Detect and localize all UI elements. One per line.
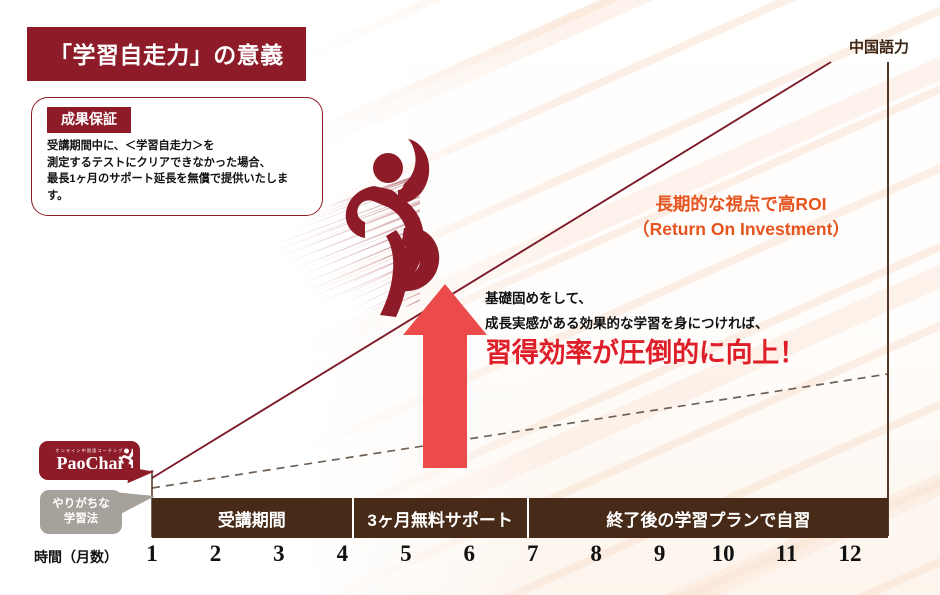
roi-line-1: 長期的な視点で高ROI <box>596 192 886 217</box>
x-axis-row: 時間（月数） 123456789101112 <box>0 541 940 575</box>
timeline-segment-3: 終了後の学習プランで自習 <box>527 498 888 538</box>
x-axis-caption: 時間（月数） <box>34 547 118 567</box>
x-axis-tick-1: 1 <box>146 541 158 567</box>
ordinary-method-callout: やりがちな 学習法 <box>40 490 122 534</box>
guarantee-badge: 成果保証 <box>47 107 131 133</box>
guarantee-line-2: 測定するテストにクリアできなかった場合、 <box>47 155 309 172</box>
improvement-arrow <box>403 284 487 468</box>
ordinary-method-line <box>152 374 888 488</box>
emphasis-annotation: 基礎固めをして、 成長実感がある効果的な学習を身につければ、 習得効率が圧倒的に… <box>485 292 925 369</box>
x-axis-tick-5: 5 <box>400 541 412 567</box>
emphasis-line-1: 基礎固めをして、 <box>485 292 925 307</box>
guarantee-text: 受講期間中に、＜学習自走力＞を 測定するテストにクリアできなかった場合、 最長1… <box>47 138 309 204</box>
slide-canvas: 「学習自走力」の意義 成果保証 受講期間中に、＜学習自走力＞を 測定するテストに… <box>0 0 940 595</box>
logo-wordmark: PaoChai <box>56 454 122 472</box>
x-axis-tick-3: 3 <box>273 541 285 567</box>
timeline-segment-2: 3ヶ月無料サポート <box>352 498 527 538</box>
x-axis-tick-8: 8 <box>590 541 602 567</box>
grey-callout-line-1: やりがちな <box>52 497 110 512</box>
guarantee-card: 成果保証 受講期間中に、＜学習自走力＞を 測定するテストにクリアできなかった場合… <box>31 97 323 216</box>
paochai-logo: オンライン中国語コーチング PaoChai <box>39 441 140 480</box>
x-axis-tick-7: 7 <box>527 541 539 567</box>
logo-runner-icon <box>119 448 133 468</box>
x-axis-tick-6: 6 <box>464 541 476 567</box>
x-axis-tick-12: 12 <box>839 541 862 567</box>
grey-callout-line-2: 学習法 <box>64 512 99 527</box>
x-axis-tick-4: 4 <box>337 541 349 567</box>
guarantee-line-1: 受講期間中に、＜学習自走力＞を <box>47 138 309 155</box>
x-axis-tick-10: 10 <box>712 541 735 567</box>
emphasis-headline: 習得効率が圧倒的に向上！ <box>485 338 925 369</box>
page-title: 「学習自走力」の意義 <box>27 27 306 81</box>
x-axis-tick-11: 11 <box>776 541 798 567</box>
runner-figure <box>346 139 439 317</box>
timeline-segment-1: 受講期間 <box>152 498 352 538</box>
roi-annotation: 長期的な視点で高ROI （Return On Investment） <box>596 192 886 243</box>
y-axis-label: 中国語力 <box>849 36 909 57</box>
emphasis-line-2: 成長実感がある効果的な学習を身につければ、 <box>485 317 925 332</box>
guarantee-line-3: 最長1ヶ月のサポート延長を無償で提供いたします。 <box>47 171 309 204</box>
x-axis-tick-2: 2 <box>210 541 222 567</box>
roi-line-2: （Return On Investment） <box>596 217 886 242</box>
timeline-bar: 受講期間3ヶ月無料サポート終了後の学習プランで自習 <box>152 498 888 538</box>
x-axis-tick-9: 9 <box>654 541 666 567</box>
